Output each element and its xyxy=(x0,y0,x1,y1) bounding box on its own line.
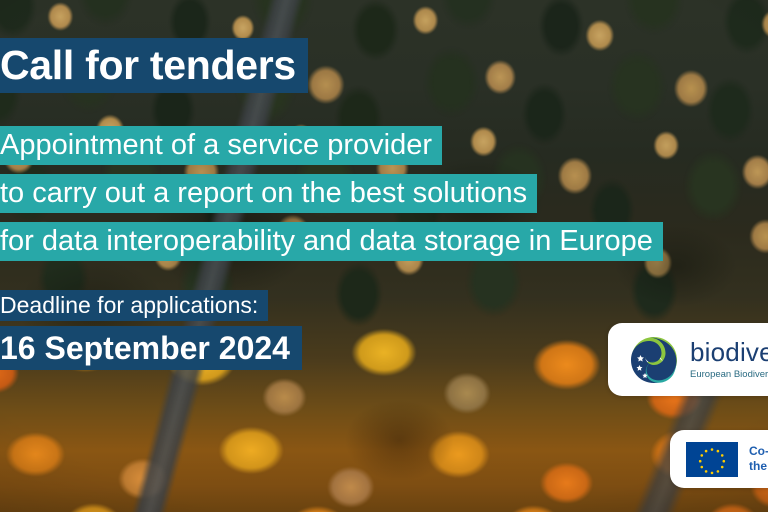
eu-cofunding-line-1: Co-funded by xyxy=(749,444,768,459)
deadline-label-text: Deadline for applications: xyxy=(0,294,258,317)
biodiversa-name: biodiversa+ xyxy=(690,339,768,365)
deadline-label-banner: Deadline for applications: xyxy=(0,290,268,321)
subtitle-line-3-text: for data interoperability and data stora… xyxy=(0,227,653,256)
subtitle-line-3-banner: for data interoperability and data stora… xyxy=(0,222,663,261)
eu-cofunding-text: Co-funded by the European Union xyxy=(749,444,768,473)
subtitle-line-1-text: Appointment of a service provider xyxy=(0,131,432,160)
biodiversa-logo-card: biodiversa+ European Biodiversity Partne… xyxy=(608,323,768,396)
promo-banner-image: Call for tenders Appointment of a servic… xyxy=(0,0,768,512)
eu-flag-icon xyxy=(686,442,738,477)
deadline-date-text: 16 September 2024 xyxy=(0,332,290,364)
headline-text: Call for tenders xyxy=(0,45,296,86)
subtitle-line-2-text: to carry out a report on the best soluti… xyxy=(0,179,527,208)
biodiversa-swirl-icon xyxy=(629,335,679,385)
biodiversa-wordmark: biodiversa+ European Biodiversity Partne… xyxy=(690,339,768,380)
subtitle-line-1-banner: Appointment of a service provider xyxy=(0,126,442,165)
headline-banner: Call for tenders xyxy=(0,38,308,93)
eu-flag-stars xyxy=(686,442,738,477)
subtitle-line-2-banner: to carry out a report on the best soluti… xyxy=(0,174,537,213)
eu-cofunding-card: Co-funded by the European Union xyxy=(670,430,768,488)
eu-cofunding-line-2: the European Union xyxy=(749,459,768,474)
deadline-date-banner: 16 September 2024 xyxy=(0,326,302,370)
biodiversa-tagline: European Biodiversity Partnership xyxy=(690,370,768,380)
